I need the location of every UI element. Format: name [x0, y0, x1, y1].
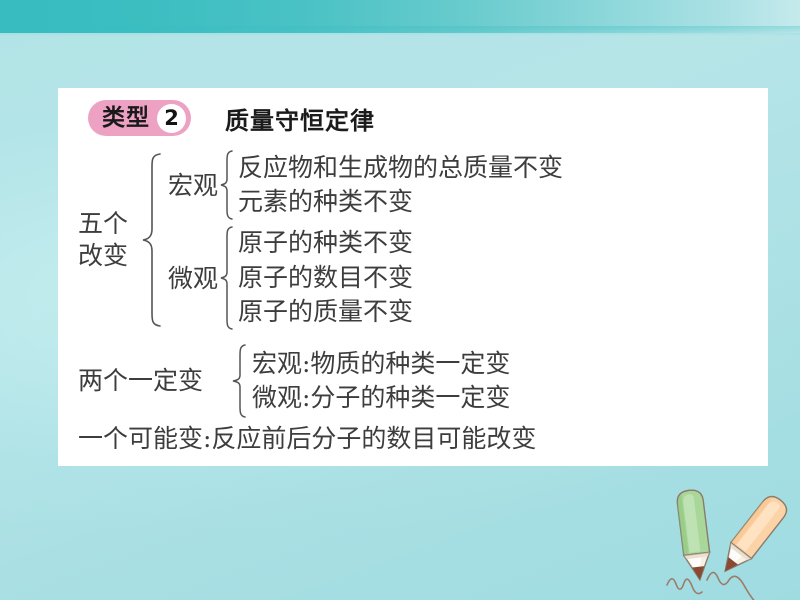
content-card: 类型 2 质量守恒定律 五个 改变	[58, 88, 768, 466]
list-item: 元素的种类不变	[234, 185, 563, 220]
list-item: 微观:分子的种类一定变	[248, 381, 510, 416]
slide-canvas: 类型 2 质量守恒定律 五个 改变	[0, 0, 800, 600]
page-title: 质量守恒定律	[225, 101, 375, 136]
type-badge-label: 类型	[102, 107, 157, 130]
list-item: 反应物和生成物的总质量不变	[234, 151, 563, 186]
top-band-shadow	[0, 26, 800, 36]
pencil-green	[676, 489, 713, 581]
branch-micro-items: 原子的种类不变 原子的数目不变 原子的质量不变	[234, 226, 413, 330]
type-badge-number: 2	[157, 104, 186, 133]
group-two-items: 宏观:物质的种类一定变 微观:分子的种类一定变	[248, 347, 510, 416]
group-five-label-line1: 五个	[78, 208, 140, 240]
group-five-branch-labels: 宏观 反应物和生成物的总质量不变 元素的种类不变 微观	[162, 148, 563, 332]
header-row: 类型 2 质量守恒定律	[88, 96, 375, 140]
brace-group-two	[230, 342, 248, 420]
group-five-label: 五个 改变	[78, 208, 140, 272]
list-item: 宏观:物质的种类一定变	[248, 347, 510, 382]
type-badge: 类型 2	[88, 100, 191, 136]
pencil-peach	[715, 492, 791, 579]
squiggle-right	[707, 572, 763, 600]
squiggle-left	[667, 579, 702, 594]
group-five-changes: 五个 改变 宏观	[78, 148, 758, 332]
branch-macro-items: 反应物和生成物的总质量不变 元素的种类不变	[234, 151, 563, 220]
group-five-label-line2: 改变	[78, 240, 140, 272]
inner-brace-micro	[218, 224, 234, 332]
list-item: 原子的种类不变	[234, 226, 413, 261]
branch-label-micro: 微观	[162, 266, 218, 291]
pencil-decoration	[655, 480, 800, 600]
inner-brace-macro	[218, 148, 234, 222]
group-two-label: 两个一定变	[78, 365, 230, 397]
list-item: 原子的质量不变	[234, 295, 413, 330]
outer-brace-five	[140, 151, 162, 329]
line-possible-change: 一个可能变:反应前后分子的数目可能改变	[78, 426, 758, 451]
branch-label-macro: 宏观	[162, 173, 218, 198]
group-two-definite-changes: 两个一定变 宏观:物质的种类一定变 微观:分子的种类一定变	[78, 342, 758, 420]
list-item: 原子的数目不变	[234, 261, 413, 296]
body-content: 五个 改变 宏观	[78, 148, 758, 451]
